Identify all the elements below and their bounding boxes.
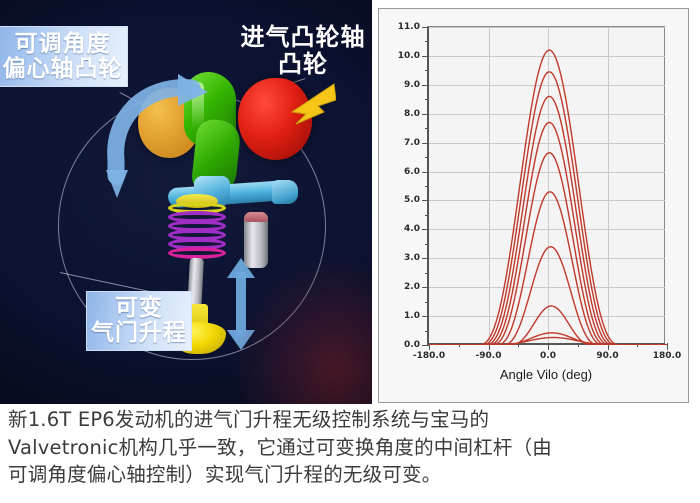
y-axis-tick-label: 5.0 bbox=[404, 195, 420, 205]
engine-illustration-panel: 可调角度 偏心轴凸轮 进气凸轮轴 凸轮 可变 气门升程 bbox=[0, 0, 372, 404]
figure-container: 可调角度 偏心轴凸轮 进气凸轮轴 凸轮 可变 气门升程 Levée soupap… bbox=[0, 0, 700, 404]
x-axis-tick-label: 90.0 bbox=[596, 351, 618, 361]
caption-text: 新1.6T EP6发动机的进气门升程无级控制系统与宝马的 Valvetronic… bbox=[8, 406, 692, 489]
y-axis-tick bbox=[422, 114, 429, 115]
chart-curve-series bbox=[429, 27, 667, 345]
y-axis-tick-label: 10.0 bbox=[398, 51, 420, 61]
x-axis-tick-label: 0.0 bbox=[540, 351, 556, 361]
valve-spring-part bbox=[168, 202, 226, 264]
y-axis-tick bbox=[422, 172, 429, 173]
x-axis-tick bbox=[667, 343, 668, 350]
chart-curve bbox=[429, 153, 667, 345]
x-axis-tick-label: 180.0 bbox=[653, 351, 681, 361]
y-axis-tick-label: 6.0 bbox=[404, 167, 420, 177]
y-axis-tick-label: 1.0 bbox=[404, 311, 420, 321]
valve-lift-chart-panel: Levée soupape (mm) Angle Vilo (deg) 0.01… bbox=[378, 8, 689, 403]
caption-line-2: Valvetronic机构几乎一致，它通过可变换角度的中间杠杆（由 bbox=[8, 434, 692, 462]
chart-curve bbox=[429, 306, 667, 345]
y-axis-tick bbox=[422, 229, 429, 230]
x-axis-tick-label: -180.0 bbox=[413, 351, 445, 361]
rotation-arrow-icon bbox=[104, 72, 214, 208]
rocker-tip bbox=[272, 180, 298, 204]
label-eccentric-line1: 可调角度 bbox=[0, 32, 127, 57]
label-variable-valve-lift: 可变 气门升程 bbox=[86, 291, 192, 351]
y-axis-tick bbox=[422, 258, 429, 259]
label-camshaft-line1: 进气凸轮轴 bbox=[229, 24, 372, 51]
y-axis-tick bbox=[422, 143, 429, 144]
y-axis-tick bbox=[422, 200, 429, 201]
y-axis-tick-label: 8.0 bbox=[404, 109, 420, 119]
y-axis-tick bbox=[422, 345, 429, 346]
chart-curve bbox=[429, 72, 667, 345]
chart-curve bbox=[429, 122, 667, 345]
chart-curve bbox=[429, 96, 667, 345]
y-axis-tick-label: 0.0 bbox=[404, 340, 420, 350]
chart-curve bbox=[429, 333, 667, 345]
y-axis-tick bbox=[422, 85, 429, 86]
y-axis-tick-label: 3.0 bbox=[404, 253, 420, 263]
caption-line-3: 可调角度偏心轴控制）实现气门升程的无级可变。 bbox=[8, 461, 692, 489]
lift-double-arrow-icon bbox=[226, 258, 256, 350]
label-lift-line1: 可变 bbox=[87, 296, 191, 321]
chart-curve bbox=[429, 337, 667, 345]
y-axis-tick-label: 11.0 bbox=[398, 22, 420, 32]
chart-curve bbox=[429, 50, 667, 345]
y-axis-tick bbox=[422, 316, 429, 317]
y-axis-tick bbox=[422, 27, 429, 28]
label-intake-camshaft: 进气凸轮轴 凸轮 bbox=[229, 24, 372, 78]
label-eccentric-line2: 偏心轴凸轮 bbox=[0, 57, 127, 82]
caption-line-1: 新1.6T EP6发动机的进气门升程无级控制系统与宝马的 bbox=[8, 406, 692, 434]
camshaft-pointer-arrow bbox=[262, 82, 336, 126]
chart-x-axis-title: Angle Vilo (deg) bbox=[427, 367, 665, 382]
y-axis-tick-label: 4.0 bbox=[404, 224, 420, 234]
y-axis-tick-label: 9.0 bbox=[404, 80, 420, 90]
y-axis-tick-label: 7.0 bbox=[404, 138, 420, 148]
y-axis-tick-label: 2.0 bbox=[404, 282, 420, 292]
label-camshaft-line2: 凸轮 bbox=[229, 51, 372, 78]
chart-plot-area: 0.01.02.03.04.05.06.07.08.09.010.011.0-1… bbox=[427, 27, 665, 345]
y-axis-tick bbox=[422, 56, 429, 57]
chart-curve bbox=[429, 247, 667, 345]
y-axis-tick bbox=[422, 287, 429, 288]
label-lift-line2: 气门升程 bbox=[87, 321, 191, 346]
x-axis-tick-label: -90.0 bbox=[476, 351, 502, 361]
label-eccentric-cam: 可调角度 偏心轴凸轮 bbox=[0, 26, 128, 87]
chart-curve bbox=[429, 192, 667, 345]
